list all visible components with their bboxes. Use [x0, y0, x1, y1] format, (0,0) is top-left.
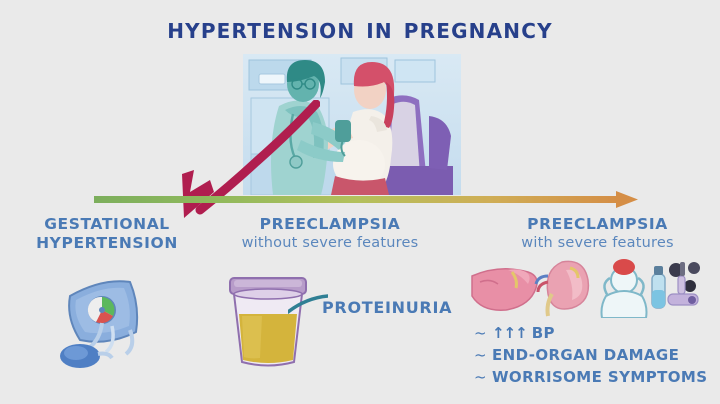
- stage-2-title: PREECLAMPSIA: [215, 215, 445, 234]
- list-item: ~ END-ORGAN DAMAGE: [474, 344, 718, 366]
- bullet-text: END-ORGAN DAMAGE: [492, 344, 679, 366]
- headache-person-icon: [602, 259, 647, 318]
- bullet-marker: ~: [474, 322, 487, 344]
- stage-label-gestational-hypertension: GESTATIONAL HYPERTENSION: [12, 215, 202, 253]
- stage-1-title-line1: GESTATIONAL: [12, 215, 202, 234]
- bp-increase-arrows: ↑↑↑: [492, 322, 527, 344]
- bullet-marker: ~: [474, 366, 487, 388]
- blood-pressure-cuff-icon: [52, 268, 168, 374]
- list-item: ~ ↑↑↑ BP: [474, 322, 718, 344]
- severe-features-list: ~ ↑↑↑ BP ~ END-ORGAN DAMAGE ~ WORRISOME …: [474, 322, 718, 388]
- stage-label-preeclampsia-without-severe-features: PREECLAMPSIA without severe features: [215, 215, 445, 253]
- proteinuria-label: PROTEINURIA: [322, 298, 452, 317]
- infographic-canvas: Hypertension in Pregnancy: [0, 0, 720, 404]
- bullet-marker: ~: [474, 344, 487, 366]
- organ-damage-icons: [470, 258, 710, 318]
- liver-icon: [472, 269, 537, 310]
- bullet-text: WORRISOME SYMPTOMS: [492, 366, 707, 388]
- stage-3-subtitle: with severe features: [480, 234, 715, 253]
- page-title: Hypertension in Pregnancy: [0, 12, 720, 45]
- stage-label-preeclampsia-with-severe-features: PREECLAMPSIA with severe features: [480, 215, 715, 253]
- severity-progression-arrow: [60, 188, 660, 214]
- blood-test-tubes-icon: [652, 262, 700, 308]
- list-item: ~ WORRISOME SYMPTOMS: [474, 366, 718, 388]
- bullet-text: BP: [532, 322, 555, 344]
- stage-2-subtitle: without severe features: [215, 234, 445, 253]
- stage-3-title: PREECLAMPSIA: [480, 215, 715, 234]
- kidney-icon: [536, 261, 588, 316]
- stage-1-title-line2: HYPERTENSION: [12, 234, 202, 253]
